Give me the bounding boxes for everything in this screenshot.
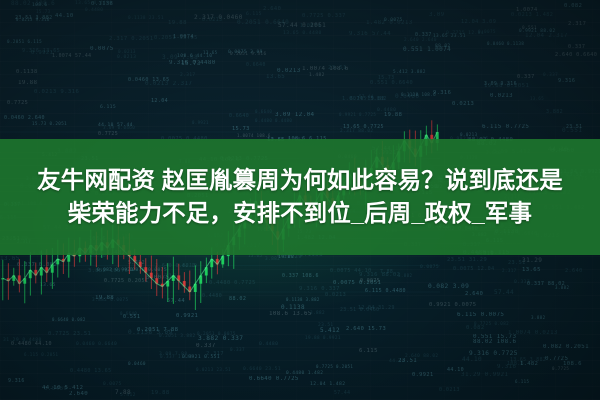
title-banner: 友牛网配资 赵匡胤篡周为何如此容易？说到底还是 柴荣能力不足，安排不到位_后周_… [0,139,600,255]
title-line-1: 友牛网配资 赵匡胤篡周为何如此容易？说到底还是 [37,164,563,197]
title-line-2: 柴荣能力不足，安排不到位_后周_政权_军事 [68,197,532,230]
screenshot-canvas: 0.7725 0.20510.0829.3163.090.448013.65 0… [0,0,600,400]
